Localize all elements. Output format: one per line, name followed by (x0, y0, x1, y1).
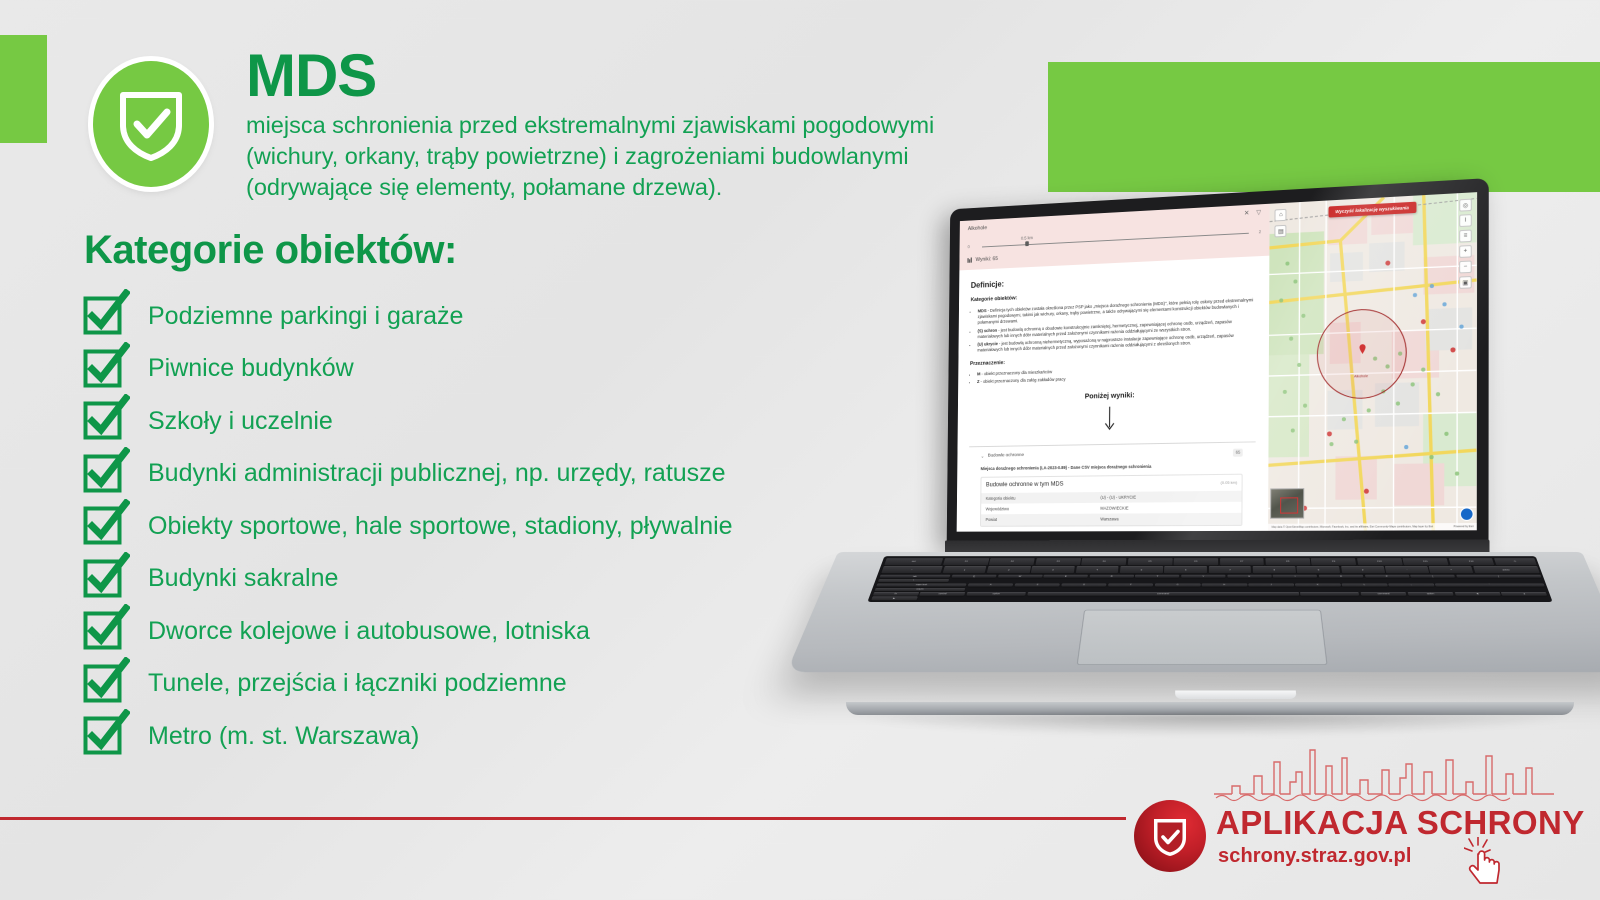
laptop-base: escF1F2F3F4F5F6F7F8F9F10F11F12⏻~12345678… (830, 526, 1590, 738)
category-item-label: Szkoły i uczelnie (148, 407, 333, 436)
table-cell-value: MAZOWIECKIE (1096, 502, 1242, 514)
keyboard-key[interactable]: F2 (989, 558, 1035, 565)
checkbox-checked-icon (82, 552, 130, 600)
checkbox-checked-icon (82, 289, 130, 337)
laptop-lid: Alkoholе ✕ ▽ 0.5 km 0 2 (947, 178, 1489, 547)
category-item-label: Budynki administracji publicznej, np. ur… (148, 459, 726, 488)
table-cell-key: Województwo (981, 503, 1096, 515)
keyboard-key[interactable]: F5 (1127, 558, 1172, 565)
category-item: Piwnice budynków (84, 343, 924, 396)
checkbox-checked-icon (84, 558, 126, 600)
keyboard-row: escF1F2F3F4F5F6F7F8F9F10F11F12⏻ (884, 558, 1537, 565)
results-group-label: Budowle ochronne (988, 453, 1024, 460)
category-item: Budynki administracji publicznej, np. ur… (84, 448, 924, 501)
results-group-count: 65 (1233, 449, 1244, 457)
keyboard-key[interactable]: 7 (1209, 566, 1252, 573)
keyboard-key[interactable]: F12 (1448, 558, 1494, 565)
keyboard-key[interactable]: F8 (1265, 558, 1310, 565)
keyboard-key[interactable]: ] (1456, 575, 1541, 578)
subtitle-line-2: (wichury, orkany, trąby powietrzne) i za… (246, 141, 1036, 172)
keyboard-key[interactable]: J (1248, 583, 1293, 586)
grid-icon (967, 257, 972, 263)
results-panel: ⌄ Budowle ochronne 65 Miejsca doraźnego … (968, 442, 1256, 527)
radius-slider-min: 0 (968, 244, 970, 249)
checkbox-checked-icon (84, 295, 126, 337)
categories-heading: Kategorie obiektów: (84, 228, 457, 273)
keyboard-key[interactable]: U (1227, 575, 1271, 578)
keyboard-key[interactable]: 3 (1031, 566, 1075, 573)
footer-url[interactable]: schrony.straz.gov.pl (1218, 845, 1412, 868)
checkbox-checked-icon (82, 499, 130, 547)
keyboard-key[interactable]: caps lock (876, 583, 967, 586)
definition-bullets: MDS - Definicja tych obiektów została ok… (977, 297, 1256, 354)
keyboard-key[interactable]: ▲ (1501, 592, 1547, 595)
radius-slider-max: 2 (1259, 229, 1261, 234)
radius-slider-value: 0.5 km (1021, 235, 1033, 240)
keyboard-key[interactable]: - (1385, 566, 1429, 573)
keyboard-key[interactable] (1300, 592, 1359, 595)
keyboard-key[interactable]: O (1319, 575, 1364, 578)
keyboard-key[interactable]: F9 (1311, 558, 1356, 565)
checkbox-checked-icon (82, 342, 130, 390)
keyboard-key[interactable]: F1 (943, 558, 989, 565)
info-icon[interactable]: i (1459, 214, 1472, 227)
category-item: Podziemne parkingi i garaże (84, 290, 924, 343)
keyboard-key[interactable]: ; (1388, 583, 1434, 586)
green-accent-bar-right (1048, 62, 1600, 192)
app-document-panel: Alkoholе ✕ ▽ 0.5 km 0 2 (957, 204, 1270, 532)
result-card-title: Budowle ochronne w tym MDS (986, 481, 1064, 490)
locate-icon[interactable] (1461, 508, 1473, 520)
map-tools-left: ⌂ ▤ (1275, 209, 1287, 238)
keyboard-key[interactable]: 4 (1075, 566, 1119, 573)
checkbox-checked-icon (82, 657, 130, 705)
compass-icon[interactable]: ◎ (1459, 199, 1472, 212)
keyboard-row: tabQWERTYUIOP[]\ (877, 575, 1542, 582)
keyboard-row: ~1234567890-=delete (881, 566, 1540, 573)
mds-shield-badge (93, 61, 209, 187)
category-item-label: Piwnice budynków (148, 354, 354, 383)
table-cell-key: Powiat (981, 514, 1096, 525)
keyboard-key[interactable]: F3 (1035, 558, 1081, 565)
keyboard-key[interactable]: ◀ (1454, 592, 1500, 595)
checkbox-checked-icon (84, 453, 126, 495)
keyboard-key[interactable]: tab (879, 575, 951, 578)
shield-check-icon (115, 85, 187, 163)
category-item-label: Dworce kolejowe i autobusowe, lotniska (148, 617, 590, 646)
result-card-distance: (0.05 km) (1221, 480, 1238, 486)
keyboard-key[interactable]: F (1108, 583, 1153, 586)
subtitle-line-1: miejsca schronienia przed ekstremalnymi … (246, 110, 1036, 141)
keyboard-key[interactable]: F6 (1174, 558, 1218, 565)
map-overview-inset[interactable] (1271, 488, 1305, 519)
checkbox-checked-icon (82, 394, 130, 442)
keyboard-key[interactable]: \ (877, 579, 949, 582)
purpose-text: - obiekt przeznaczony dla mieszkańców (980, 370, 1052, 377)
keyboard-key[interactable]: F4 (1081, 558, 1126, 565)
hand-pointer-icon (1464, 837, 1512, 887)
checkbox-checked-icon (82, 604, 130, 652)
keyboard-key[interactable]: control (919, 592, 965, 595)
keyboard-key[interactable]: 9 (1297, 566, 1341, 573)
keyboard-key[interactable]: L (1342, 583, 1388, 586)
checkbox-checked-icon (84, 400, 126, 442)
keyboard-key[interactable]: Q (951, 575, 996, 578)
definition-term: (U) ukrycie (977, 341, 998, 346)
results-count-label: Wyniki: 65 (976, 256, 998, 263)
keyboard-key[interactable]: option (966, 592, 1026, 595)
checkbox-checked-icon (84, 348, 126, 390)
category-item-label: Podziemne parkingi i garaże (148, 302, 463, 331)
definitions-document: Definicje: Kategorie obiektów: MDS - Def… (957, 255, 1270, 532)
laptop-latch-notch (1175, 691, 1297, 699)
map-tools-right: ◎ i ≡ + − ▣ (1459, 199, 1472, 292)
keyboard-key[interactable]: ⏻ (1494, 558, 1536, 565)
checkbox-checked-icon (84, 505, 126, 547)
keyboard-key[interactable]: A (968, 583, 1014, 586)
chevron-down-icon[interactable]: ⌄ (981, 454, 984, 460)
results-layer-label: Miejsca doraźnego schronienia (LA-2023-0… (981, 463, 1244, 472)
keyboard-key[interactable]: 0 (1341, 566, 1385, 573)
checkbox-checked-icon (82, 709, 130, 757)
list-icon[interactable]: ≡ (1459, 230, 1472, 243)
keyboard-key[interactable]: esc (884, 558, 944, 565)
layers-icon[interactable]: ▤ (1275, 225, 1287, 238)
keyboard-key[interactable]: W (997, 575, 1042, 578)
keyboard-key[interactable]: [ (1410, 575, 1455, 578)
footer-logo-block: APLIKACJA SCHRONY schrony.straz.gov.pl (1126, 742, 1596, 892)
laptop-shadow (850, 714, 1572, 736)
category-item-label: Metro (m. st. Warszawa) (148, 722, 419, 751)
keyboard-key[interactable]: T (1135, 575, 1179, 578)
filter-icon[interactable]: ▽ (1256, 210, 1261, 217)
keyboard-key[interactable]: 5 (1120, 566, 1163, 573)
category-item-label: Obiekty sportowe, hale sportowe, stadion… (148, 512, 733, 541)
keyboard-key[interactable]: ' (1435, 583, 1544, 586)
keyboard-key[interactable]: return (874, 588, 966, 591)
table-cell-key: Kategoria obiektu (981, 492, 1096, 504)
definition-term: MDS (978, 308, 987, 313)
checkbox-checked-icon (84, 663, 126, 705)
purpose-text: - obiekt przeznaczony dla załóg zakładów… (979, 377, 1065, 384)
footer-app-name: APLIKACJA SCHRONY (1216, 804, 1585, 842)
basemap-icon[interactable]: ▣ (1459, 276, 1472, 289)
keyboard-key[interactable]: 8 (1253, 566, 1296, 573)
checkbox-checked-icon (84, 610, 126, 652)
category-item-label: Budynki sakralne (148, 564, 338, 593)
app-map-panel[interactable]: Alkoholе Wyczyść lokalizację wyszukiwani… (1269, 192, 1478, 531)
table-cell-value: Warszawa (1096, 513, 1242, 525)
result-card[interactable]: Budowle ochronne w tym MDS (0.05 km) Kat… (980, 474, 1243, 526)
home-icon[interactable]: ⌂ (1275, 209, 1287, 222)
keyboard-key[interactable]: I (1273, 575, 1318, 578)
keyboard-key[interactable]: 2 (986, 566, 1030, 573)
laptop-screen: Alkoholе ✕ ▽ 0.5 km 0 2 (957, 192, 1477, 532)
category-item: Obiekty sportowe, hale sportowe, stadion… (84, 500, 924, 553)
keyboard-key[interactable]: G (1155, 583, 1200, 586)
results-cue-text: Poniżej wyniki: (970, 387, 1257, 405)
map-pin-icon[interactable] (1359, 344, 1366, 354)
keyboard-key[interactable]: command (1027, 592, 1299, 595)
category-item-label: Tunele, przejścia i łączniki podziemne (148, 669, 567, 698)
table-row: Powiat Warszawa (981, 513, 1242, 525)
laptop-trackpad[interactable] (1077, 610, 1328, 665)
keyboard-row: fncontroloptioncommandcommandoption◀▲▶ (871, 592, 1550, 600)
zoom-in-icon[interactable]: + (1459, 245, 1472, 258)
keyboard-key[interactable]: command (1361, 592, 1407, 595)
keyboard-key[interactable]: F10 (1357, 558, 1403, 565)
keyboard-key[interactable]: P (1364, 575, 1409, 578)
arrow-down-icon (1104, 407, 1115, 433)
keyboard-key[interactable]: D (1061, 583, 1107, 586)
keyboard-row: caps lockASDFGHJKL;'return (874, 583, 1546, 591)
close-icon[interactable]: ✕ (1244, 211, 1249, 218)
keyboard-key[interactable]: ~ (881, 566, 943, 573)
category-item: Szkoły i uczelnie (84, 395, 924, 448)
result-attribute-table: Kategoria obiektu (U) - (U) - UKRYCIEWoj… (981, 491, 1242, 526)
definition-term: (S) schron (978, 327, 998, 333)
keyboard-key[interactable]: H (1202, 583, 1247, 586)
zoom-out-icon[interactable]: − (1459, 260, 1472, 273)
category-item: Budynki sakralne (84, 553, 924, 606)
shield-check-icon (1149, 813, 1191, 859)
keyboard-key[interactable]: K (1295, 583, 1340, 586)
keyboard-key[interactable]: = (1429, 566, 1474, 573)
keyboard-key[interactable]: Y (1181, 575, 1225, 578)
page-title: MDS (246, 47, 1036, 106)
footer-divider (0, 817, 1126, 820)
keyboard-key[interactable]: fn (872, 592, 918, 595)
keyboard-key[interactable]: 1 (942, 566, 987, 573)
categories-list: Podziemne parkingi i garaże Piwnice budy… (84, 290, 924, 763)
radius-slider-handle[interactable] (1025, 241, 1029, 246)
keyboard-key[interactable]: ▶ (871, 597, 918, 600)
checkbox-checked-icon (82, 447, 130, 495)
purpose-bullets: M - obiekt przeznaczony dla mieszkańcówZ… (977, 363, 1256, 385)
keyboard-key[interactable]: E (1043, 575, 1088, 578)
laptop-body: escF1F2F3F4F5F6F7F8F9F10F11F12⏻~12345678… (787, 552, 1600, 672)
keyboard-key[interactable]: 6 (1164, 566, 1207, 573)
keyboard-key[interactable]: S (1014, 583, 1060, 586)
laptop-keyboard[interactable]: escF1F2F3F4F5F6F7F8F9F10F11F12⏻~12345678… (867, 556, 1552, 602)
keyboard-key[interactable]: F11 (1403, 558, 1449, 565)
keyboard-key[interactable]: delete (1473, 566, 1539, 573)
green-accent-bar-left (0, 35, 47, 143)
search-radius-label: Alkoholе (1354, 374, 1368, 378)
header-text-block: MDS miejsca schronienia przed ekstremaln… (246, 47, 1036, 204)
keyboard-key[interactable]: option (1408, 592, 1454, 595)
keyboard-key[interactable]: R (1089, 575, 1134, 578)
category-item: Metro (m. st. Warszawa) (84, 710, 924, 763)
checkbox-checked-icon (84, 715, 126, 757)
laptop-mockup: Alkoholе ✕ ▽ 0.5 km 0 2 (830, 192, 1590, 752)
page-subtitle: miejsca schronienia przed ekstremalnymi … (246, 110, 1036, 204)
footer-shield-badge (1134, 800, 1206, 872)
keyboard-key[interactable]: F7 (1220, 558, 1265, 565)
